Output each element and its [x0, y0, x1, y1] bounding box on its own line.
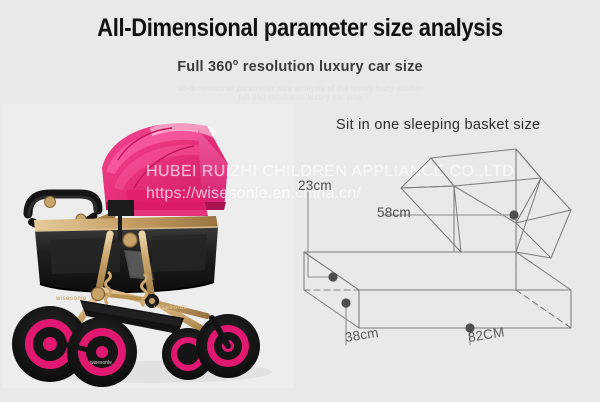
box-front-face — [359, 290, 571, 328]
measurement-dots — [328, 210, 518, 332]
canopy-right-wing — [516, 178, 571, 258]
wheel-front-small: wisesonle — [67, 317, 137, 387]
canopy-top-face — [431, 149, 541, 186]
canopy-wing-fold — [516, 210, 571, 223]
dimension-label-canopy-height: 58cm — [377, 205, 411, 220]
box-left-face — [304, 252, 359, 328]
frame-hinge-left — [92, 288, 105, 301]
leader-lines — [308, 192, 514, 345]
page-root: All-Dimensional parameter size analysis … — [0, 0, 600, 402]
box-top-face — [304, 252, 571, 290]
leader-23cm — [308, 192, 333, 277]
subtitle-prefix: Full 360 — [177, 59, 233, 75]
dot-58cm — [509, 210, 518, 219]
faint-caption-line-2: full 360 resolution luxury car size — [0, 93, 600, 102]
handle-adjust-knob-left — [45, 197, 56, 208]
seat-lining — [126, 190, 208, 216]
stroller-photo: wisesonle wisesonle — [2, 104, 294, 388]
subtitle-suffix: resolution luxury car size — [239, 59, 423, 75]
brand-mark-frame: wisesonle — [153, 304, 188, 311]
tire-brand-mark: wisesonle — [90, 360, 112, 366]
hubcap-front-large — [43, 337, 57, 351]
page-subtitle: Full 360o resolution luxury car size — [0, 57, 600, 75]
canopy-wireframe — [401, 149, 571, 258]
canopy-diagonal-a — [454, 186, 516, 223]
bassinet-buckle — [123, 233, 137, 247]
page-title: All-Dimensional parameter size analysis — [36, 14, 564, 43]
canopy-left-fold — [401, 158, 454, 188]
hubcap-front-small — [96, 346, 108, 358]
dimension-label-height: 23cm — [298, 178, 332, 193]
basket-panel-right — [152, 234, 207, 272]
dot-38cm — [341, 298, 350, 307]
hub-rear-far — [177, 343, 199, 365]
section-title-sleeping-basket: Sit in one sleeping basket size — [336, 117, 540, 133]
dimension-diagram — [286, 140, 600, 365]
box-hidden-diagonal — [516, 290, 571, 328]
canopy-right-fold — [516, 149, 541, 223]
harness-block — [108, 200, 134, 216]
dot-23cm — [328, 272, 337, 281]
